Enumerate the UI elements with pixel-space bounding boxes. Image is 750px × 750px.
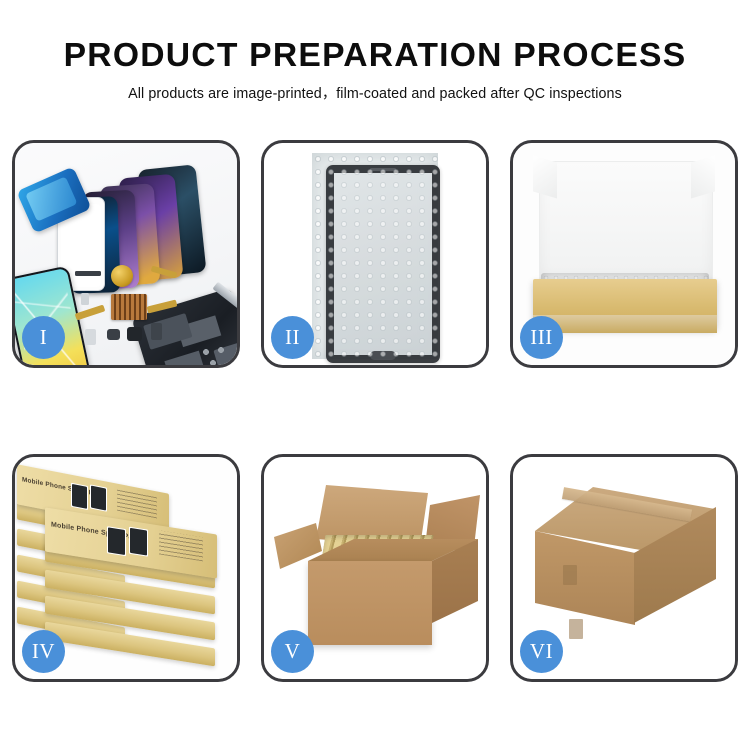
small-part-speaker-icon bbox=[127, 327, 142, 341]
product-preparation-process-page: PRODUCT PREPARATION PROCESS All products… bbox=[0, 0, 750, 750]
small-part-button-icon bbox=[107, 329, 120, 340]
box-artwork-screen-a-icon bbox=[71, 483, 88, 510]
process-step-panel-3: III bbox=[510, 140, 738, 368]
step-badge-2: II bbox=[271, 316, 314, 359]
box-artwork-screen-a-icon bbox=[107, 526, 126, 556]
screws-icon bbox=[201, 347, 231, 365]
step-badge-1: I bbox=[22, 316, 65, 359]
step-badge-5: V bbox=[271, 630, 314, 673]
process-step-panel-2: II bbox=[261, 140, 489, 368]
carton-handle-tab-bottom-icon bbox=[569, 619, 583, 639]
page-title: PRODUCT PREPARATION PROCESS bbox=[0, 38, 750, 73]
process-step-panel-5: V bbox=[261, 454, 489, 682]
process-step-panel-6: VI bbox=[510, 454, 738, 682]
process-step-grid: I II III bbox=[12, 140, 738, 682]
page-header: PRODUCT PREPARATION PROCESS All products… bbox=[0, 0, 750, 103]
step-badge-4: IV bbox=[22, 630, 65, 673]
step-badge-3: III bbox=[520, 316, 563, 359]
box-artwork-screen-b-icon bbox=[90, 484, 107, 511]
foam-flap-left-icon bbox=[533, 156, 557, 199]
small-part-chip-icon bbox=[81, 293, 89, 305]
step-badge-6: VI bbox=[520, 630, 563, 673]
small-part-camera-icon bbox=[151, 323, 162, 340]
process-step-panel-4: Mobile Phone Spare Parts Mobile Phone Sp… bbox=[12, 454, 240, 682]
small-part-strip-icon bbox=[75, 271, 101, 276]
process-step-panel-1: I bbox=[12, 140, 240, 368]
box-spec-lines-icon bbox=[159, 530, 203, 561]
small-part-connector-icon bbox=[85, 329, 96, 345]
box-artwork-screen-b-icon bbox=[129, 527, 148, 557]
carton-front-face-icon bbox=[308, 561, 432, 645]
page-subtitle: All products are image-printed，film-coat… bbox=[0, 82, 750, 103]
chip-array-part-icon bbox=[111, 294, 147, 320]
box-spec-lines-icon bbox=[117, 489, 157, 519]
foam-flap-right-icon bbox=[691, 156, 715, 199]
carton-handle-tab-top-icon bbox=[563, 565, 577, 585]
copper-coil-part-icon bbox=[111, 265, 133, 287]
wrapped-phone-screen-icon bbox=[326, 165, 440, 363]
foam-lining-icon bbox=[539, 161, 713, 287]
